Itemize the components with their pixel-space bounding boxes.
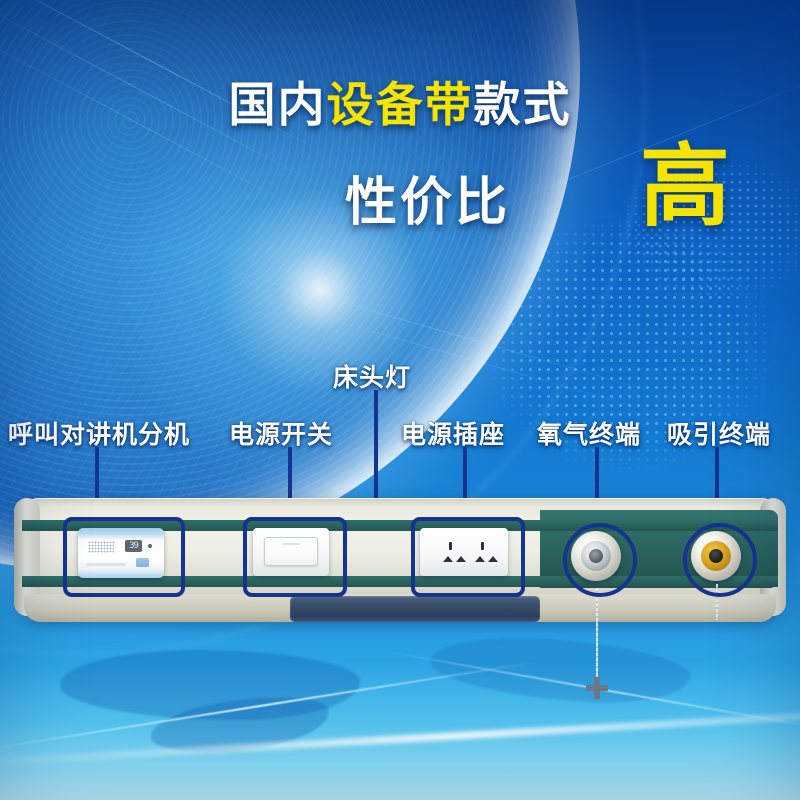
vignette-overlay (0, 0, 800, 800)
promo-banner: 国内设备带款式 性价比 高 呼叫对讲机分机 电源开关 床头灯 电源插座 氧气终端… (0, 0, 800, 800)
